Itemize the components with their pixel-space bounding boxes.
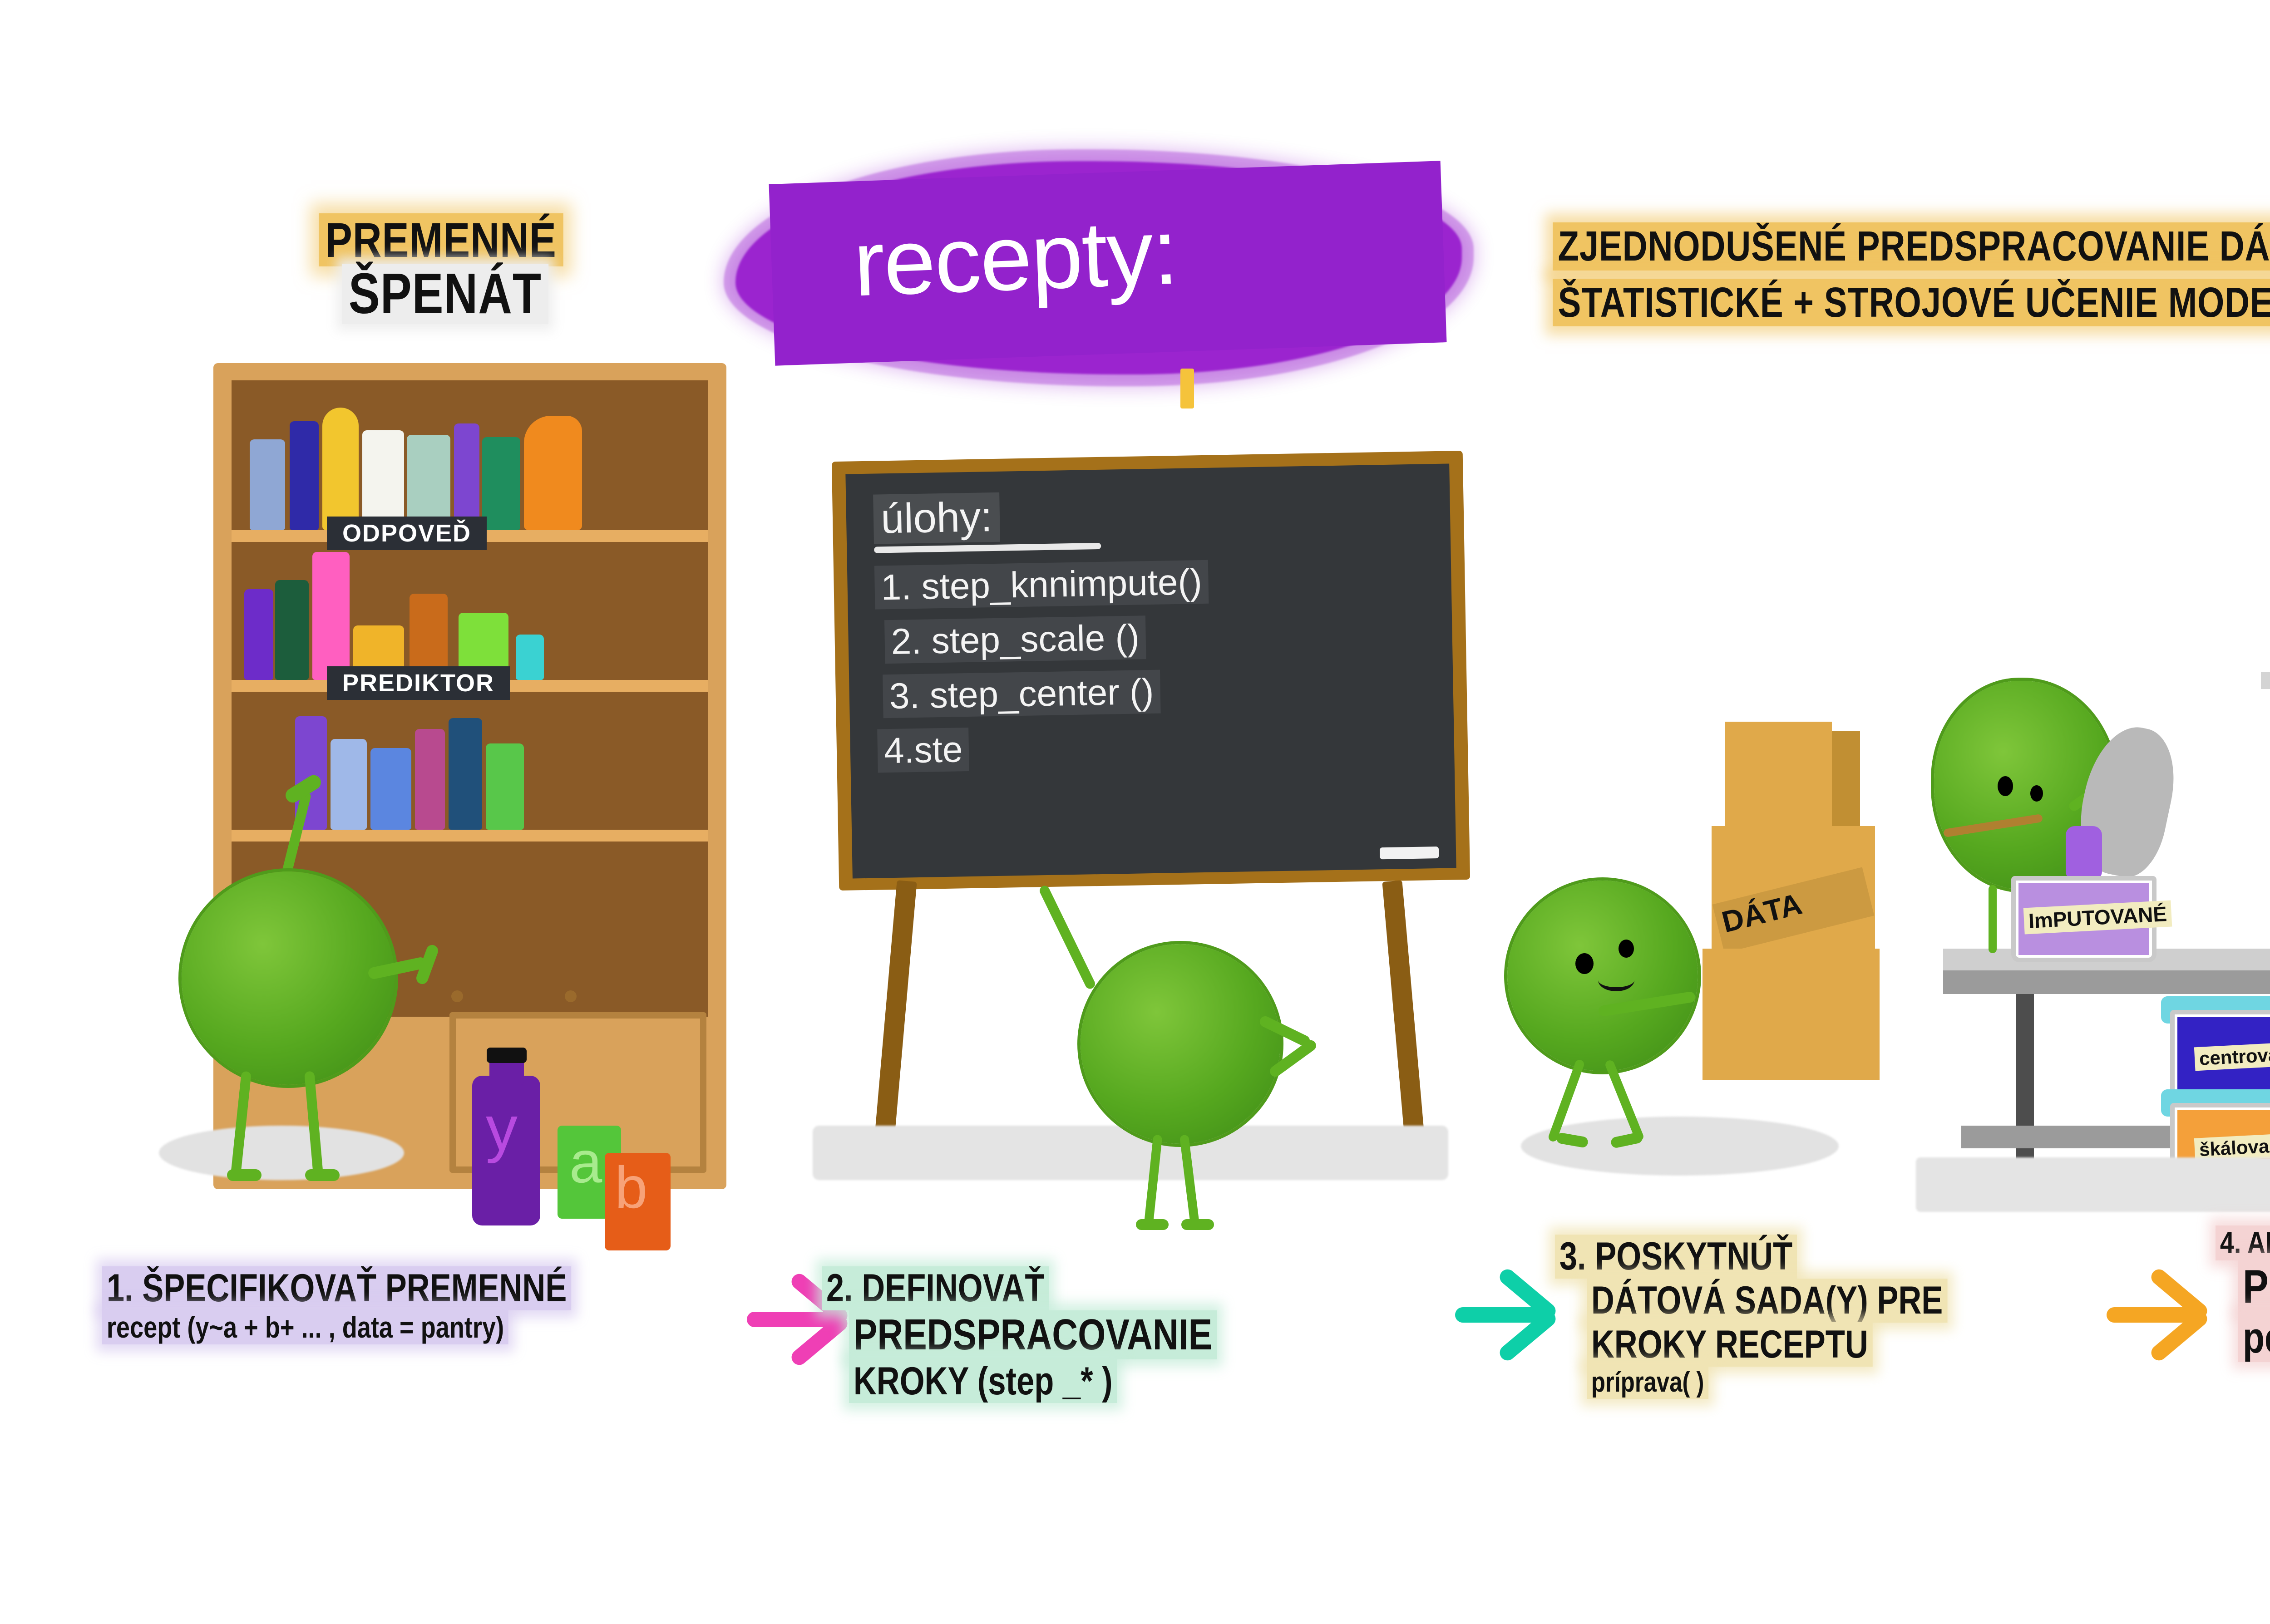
- chalk-stick: [1380, 846, 1439, 859]
- monster-eye-right: [2030, 785, 2043, 802]
- blackboard-title: úlohy:: [873, 492, 1000, 544]
- can-b: b: [605, 1153, 671, 1250]
- shelf-label-odpoved: ODPOVEĎ: [327, 517, 487, 550]
- monster-foot: [1181, 1219, 1214, 1230]
- yellow-chalk-mark: [1180, 369, 1194, 408]
- jar: [407, 435, 450, 530]
- blackboard-item-3: 3. step_center (): [883, 670, 1160, 718]
- monster-eye-right: [1619, 940, 1634, 958]
- monster-leg: [1144, 1135, 1163, 1226]
- jar: [486, 743, 524, 830]
- kitchen-scene: PREDSPRACOVATEĽ DELUX ImPUTOVAN: [1989, 522, 2270, 1166]
- jar: [244, 589, 273, 680]
- jar: [250, 439, 285, 530]
- front-bottles: y a b: [459, 1039, 695, 1230]
- jar: [482, 437, 520, 530]
- step-4-line-1: 4. APLIKOVAŤ: [2216, 1225, 2270, 1260]
- monster-shadow: [159, 1126, 404, 1180]
- poster-canvas: recepty: PREMENNÉ ŠPENÁT ZJEDNODUŠENÉ PR…: [0, 0, 2270, 1624]
- box-top: [1725, 722, 1832, 826]
- pantry-sign-top: PREMENNÉ: [319, 213, 563, 266]
- jar: [454, 423, 479, 530]
- monster-pantry: [173, 794, 463, 1194]
- step-3-line-2: DÁTOVÁ SADA(Y) PRE: [1587, 1279, 1947, 1323]
- monster-eye-left: [1998, 776, 2013, 796]
- step-3-line-1: 3. POSKYTNÚŤ: [1555, 1235, 1797, 1279]
- container-imputed: ImPUTOVANÉ: [2011, 876, 2156, 962]
- step-3-line-3: KROKY RECEPTU: [1587, 1323, 1873, 1367]
- step-1-line-1: 1. ŠPECIFIKOVAŤ PREMENNÉ: [102, 1266, 571, 1310]
- monster-eye-left: [1575, 953, 1594, 974]
- monster-mouth: [1598, 969, 1634, 991]
- step-3-caption: 3. POSKYTNÚŤ DÁTOVÁ SADA(Y) PRE KROKY RE…: [1555, 1235, 2163, 1399]
- monster-arm: [1038, 884, 1096, 990]
- blackboard-leg-left: [873, 880, 917, 1149]
- step-4-caption: 4. APLIKOVAŤ PREDSPRACOVANIE! pečenie (): [2216, 1225, 2270, 1362]
- monster-foot: [305, 1169, 340, 1181]
- monster-leg: [1989, 885, 1997, 953]
- box-top-side: [1832, 731, 1860, 831]
- monster-shadow: [1521, 1117, 1839, 1176]
- blackboard: úlohy: 1. step_knnimpute() 2. step_scale…: [832, 451, 1470, 891]
- blackboard-surface: úlohy: 1. step_knnimpute() 2. step_scale…: [845, 463, 1456, 878]
- jar: [516, 635, 544, 680]
- jar: [362, 430, 404, 530]
- page-title: recepty:: [852, 198, 1179, 317]
- monster-foot: [227, 1169, 262, 1181]
- step-3-line-4: príprava( ): [1587, 1367, 1708, 1399]
- step-1-caption: 1. ŠPECIFIKOVAŤ PREMENNÉ recept (y~a + b…: [102, 1266, 751, 1344]
- bottle-cap: [487, 1048, 527, 1063]
- can-label-b: b: [615, 1164, 647, 1211]
- step-4-line-3: pečenie (): [2238, 1314, 2270, 1363]
- step-2-caption: 2. DEFINOVAŤ PREDSPRACOVANIE KROKY (step…: [822, 1266, 1439, 1403]
- step-1-line-2: recept (y~a + b+ ... , data = pantry): [102, 1310, 508, 1344]
- shelf-label-prediktor: PREDIKTOR: [327, 666, 510, 700]
- subtitle-line-1: ZJEDNODUŠENÉ PREDSPRACOVANIE DÁT PRE: [1553, 222, 2270, 271]
- monster-foot: [1136, 1219, 1169, 1230]
- jar: [290, 421, 319, 530]
- monster-body: [1081, 944, 1280, 1144]
- pantry-sign-bottom: ŠPENÁT: [342, 264, 548, 324]
- blackboard-item-2: 2. step_scale (): [884, 615, 1146, 664]
- blackboard-item-1: 1. step_knnimpute(): [874, 560, 1209, 610]
- bench-edge: [1943, 970, 2270, 994]
- jar: [275, 580, 309, 680]
- jar: [322, 408, 359, 530]
- step-4-line-2: PREDSPRACOVANIE!: [2238, 1260, 2270, 1313]
- monster-delivery: [1507, 862, 1780, 1171]
- bottle-label-y: y: [486, 1103, 518, 1154]
- monster-leg: [1179, 1135, 1199, 1226]
- jar: [312, 552, 350, 680]
- subtitle: ZJEDNODUŠENÉ PREDSPRACOVANIE DÁT PRE ŠTA…: [1553, 222, 2270, 326]
- batter-drip: [2066, 826, 2102, 881]
- pantry-sign: PREMENNÉ ŠPENÁT: [272, 213, 663, 324]
- bottle-y: y: [472, 1076, 540, 1225]
- step-2-line-3: KROKY (step _* ): [849, 1359, 1117, 1403]
- step-2-line-1: 2. DEFINOVAŤ: [822, 1266, 1049, 1310]
- step-2-line-2: PREDSPRACOVANIE: [849, 1310, 1217, 1359]
- can-label-a: a: [569, 1138, 602, 1186]
- blackboard-item-4: 4.ste: [877, 728, 969, 773]
- monster-teacher: [1035, 890, 1317, 1189]
- subtitle-line-2: ŠTATISTICKÉ + STROJOVÉ UČENIE MODELY: [1553, 279, 2270, 327]
- door-knob: [565, 990, 577, 1002]
- blackboard-leg-right: [1382, 880, 1425, 1149]
- monster-body: [182, 871, 395, 1085]
- jar: [524, 416, 582, 530]
- kitchen-shadow: [1916, 1157, 2270, 1212]
- bench-leg-left: [2016, 994, 2034, 1176]
- mixer-band: [2261, 672, 2270, 689]
